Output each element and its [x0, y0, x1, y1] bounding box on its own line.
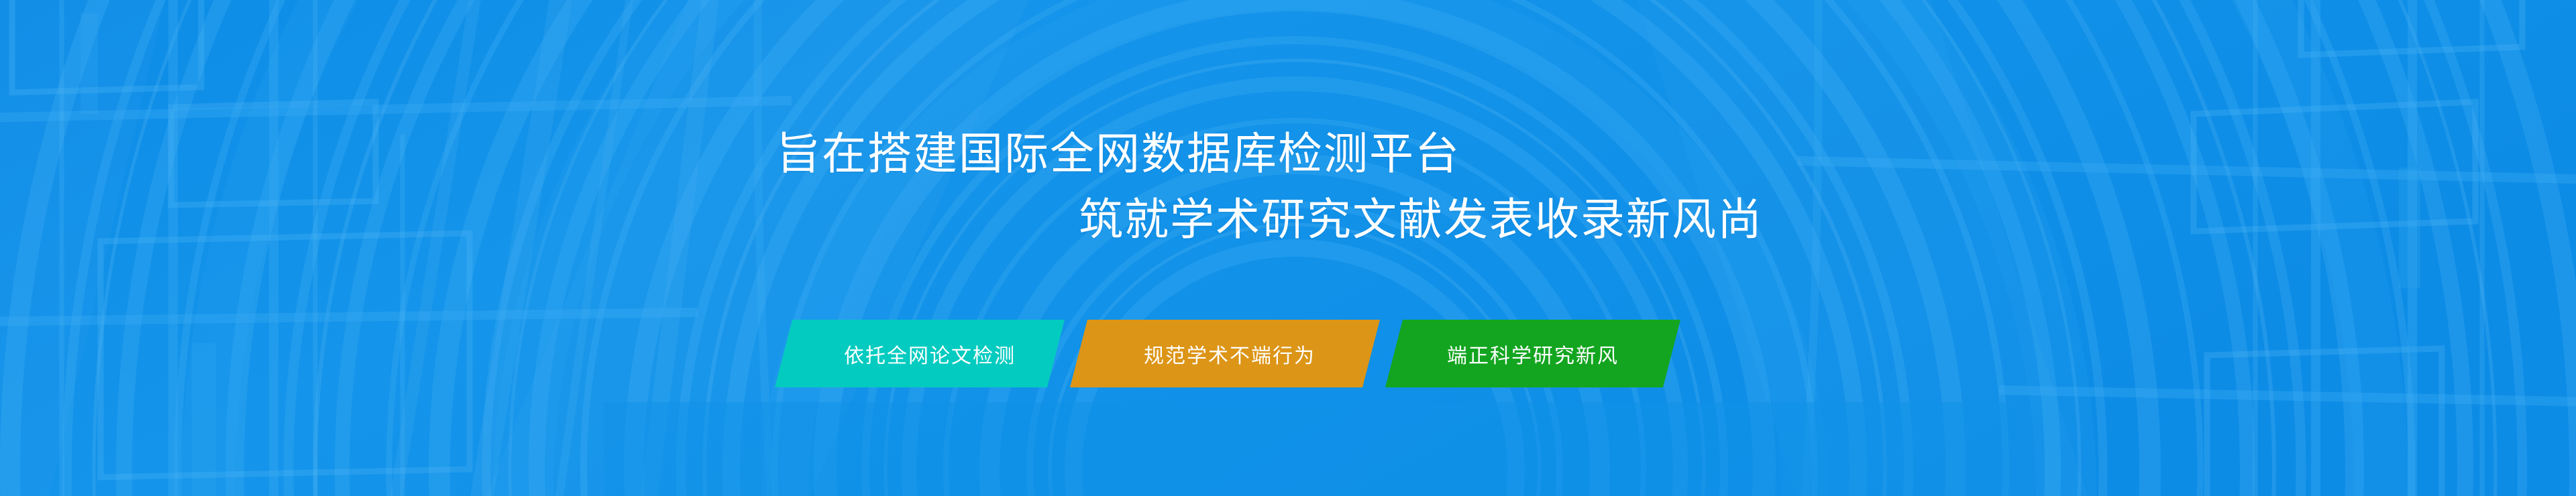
- feature-tag-strip: 依托全网论文检测 规范学术不端行为 端正科学研究新风: [775, 320, 1680, 387]
- feature-tag-label: 端正科学研究新风: [1444, 339, 1621, 369]
- feature-tag-research-ethos[interactable]: 端正科学研究新风: [1385, 320, 1680, 387]
- feature-tag-label: 规范学术不端行为: [1141, 339, 1318, 369]
- background-pattern: [0, 0, 2576, 496]
- feature-tag-academic-misconduct[interactable]: 规范学术不端行为: [1070, 320, 1380, 387]
- promo-banner: 旨在搭建国际全网数据库检测平台 筑就学术研究文献发表收录新风尚 依托全网论文检测…: [0, 0, 2576, 496]
- feature-tag-paper-detection[interactable]: 依托全网论文检测: [775, 320, 1065, 387]
- feature-tag-label: 依托全网论文检测: [841, 339, 1018, 369]
